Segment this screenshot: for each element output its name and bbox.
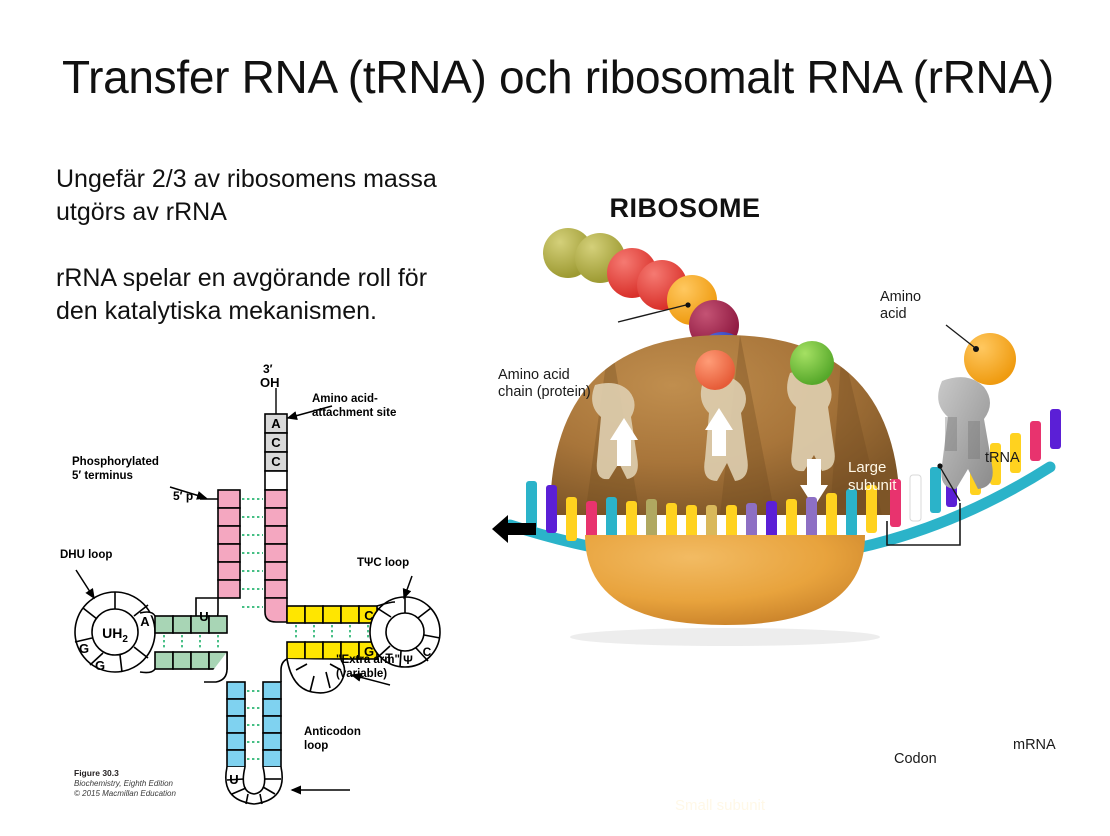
label-codon: Codon: [894, 751, 937, 768]
body-text-block: Ungefär 2/3 av ribosomens massa utgörs a…: [56, 163, 456, 327]
ribosome-figure: RIBOSOME: [490, 185, 1100, 665]
label-5-prime-p: 5′ p: [173, 489, 193, 504]
amino-acid-sphere-green: [790, 341, 834, 385]
caption-source: Biochemistry, Eighth Edition: [74, 779, 176, 789]
paragraph-2: rRNA spelar en avgörande roll för den ka…: [56, 262, 456, 327]
acceptor-base-a: A: [271, 416, 281, 431]
dhu-base-a: A: [140, 614, 150, 629]
ribosome-diagram-svg: [490, 185, 1100, 665]
label-extra-arm: "Extra arm" (variable): [336, 653, 400, 681]
label-amino-acid: Amino acid: [880, 289, 921, 324]
paragraph-1: Ungefär 2/3 av ribosomens massa utgörs a…: [56, 163, 456, 228]
label-tpsic-loop: TΨC loop: [357, 556, 409, 570]
label-oh: OH: [260, 375, 280, 391]
amino-acid-sphere-center: [695, 350, 735, 390]
label-dhu-loop: DHU loop: [60, 548, 112, 562]
caption-figure-number: Figure 30.3: [74, 768, 176, 779]
ribosome-title: RIBOSOME: [490, 193, 880, 224]
label-large-subunit: Large subunit: [848, 459, 896, 495]
label-anticodon-loop: Anticodon loop: [304, 725, 361, 753]
page-title: Transfer RNA (tRNA) och ribosomalt RNA (…: [62, 52, 1042, 104]
stem-base-u: U: [199, 609, 208, 624]
figure-caption: Figure 30.3 Biochemistry, Eighth Edition…: [74, 768, 176, 799]
caption-copyright: © 2015 Macmillan Education: [74, 789, 176, 799]
label-trna: tRNA: [985, 450, 1020, 467]
dhu-base-g1: G: [79, 641, 89, 656]
leader-dhu: [76, 570, 94, 598]
slide: Transfer RNA (tRNA) och ribosomalt RNA (…: [0, 0, 1110, 836]
trna-cloverleaf-figure: A C C U A G G C G T Ψ C U UH2: [60, 370, 500, 820]
tpsic-base-psi: Ψ: [403, 653, 413, 667]
anticodon-base-u: U: [229, 772, 238, 787]
leader-tpsic: [404, 576, 412, 598]
label-mrna: mRNA: [1013, 737, 1056, 754]
label-amino-acid-attachment: Amino acid- attachment site: [312, 392, 396, 420]
small-subunit: [585, 535, 865, 625]
acceptor-base-c2: C: [271, 454, 281, 469]
dhu-base-g2: G: [95, 658, 105, 673]
acceptor-base-c1: C: [271, 435, 281, 450]
label-small-subunit: Small subunit: [675, 797, 765, 815]
label-phosphorylated-terminus: Phosphorylated 5′ terminus: [72, 455, 159, 483]
tpsic-base-c2: C: [423, 645, 432, 659]
trna-diagram-svg: A C C U A G G C G T Ψ C U UH2: [60, 370, 500, 810]
label-amino-acid-chain: Amino acid chain (protein): [498, 367, 591, 402]
free-amino-acid-sphere: [964, 333, 1016, 385]
tpsic-base-c1: C: [364, 608, 374, 623]
